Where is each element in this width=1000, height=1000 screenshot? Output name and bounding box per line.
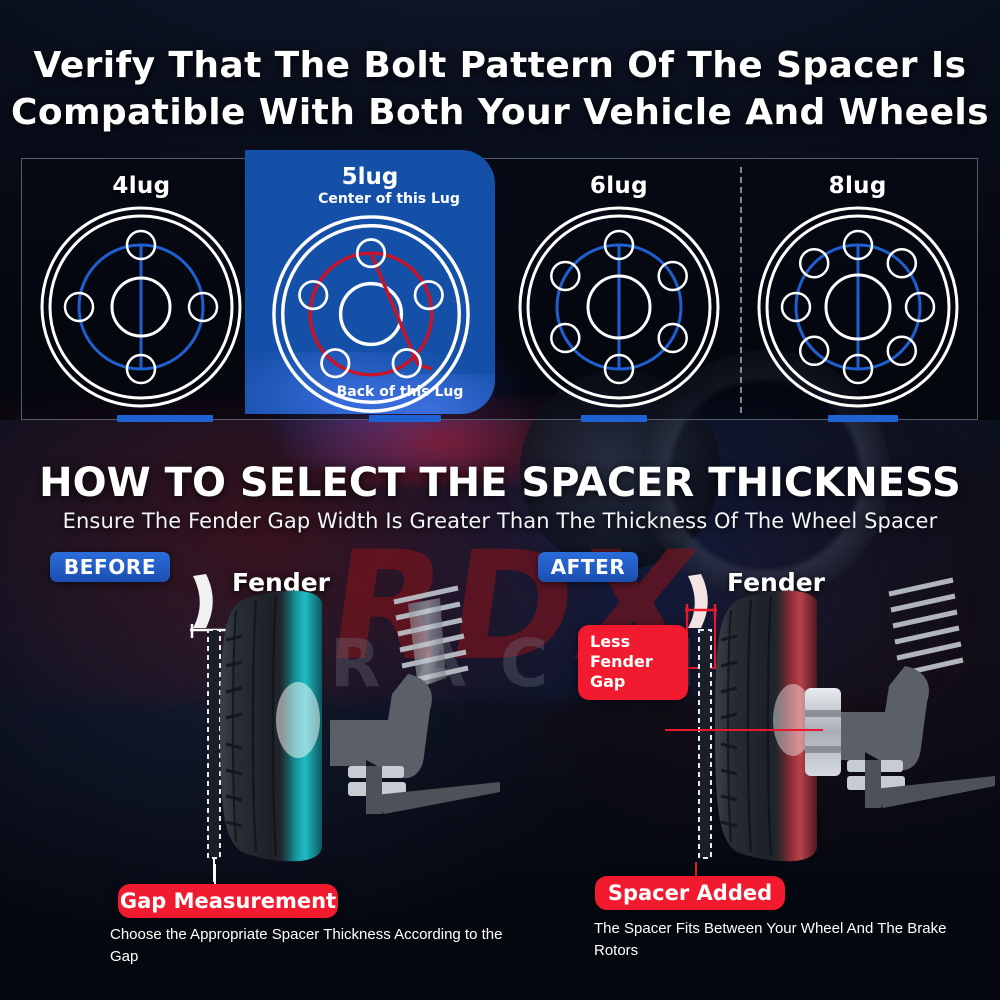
lug-diagram-8 (754, 203, 962, 411)
badge-after: AFTER (538, 552, 638, 582)
section-title: HOW TO SELECT THE SPACER THICKNESS (0, 460, 1000, 506)
bolt-pattern-section: 4lug 6lug (21, 158, 978, 420)
lug-panel-title: 6lug (590, 173, 648, 199)
lug-note-back: Back of this Lug (245, 384, 495, 400)
after-illustration (665, 570, 995, 890)
lug-panel-title: 4lug (112, 173, 170, 199)
badge-before: BEFORE (50, 552, 170, 582)
after-caption: The Spacer Fits Between Your Wheel And T… (594, 918, 994, 962)
page-title-line2: Compatible With Both Your Vehicle And Wh… (0, 89, 1000, 136)
less-fender-gap-label: Less Fender Gap (578, 625, 688, 700)
page-title-line1: Verify That The Bolt Pattern Of The Spac… (34, 45, 967, 86)
lug-note-center: Center of this Lug (245, 191, 495, 207)
spacer-added-label: Spacer Added (595, 876, 785, 910)
lug-diagram-4 (37, 203, 245, 411)
lug-panel-title: 5lug (245, 164, 495, 190)
page-title: Verify That The Bolt Pattern Of The Spac… (0, 42, 1000, 136)
underbar-6lug (581, 415, 647, 422)
lug-diagram-6 (515, 203, 723, 411)
panel-divider (740, 167, 742, 413)
lug-panel-8lug[interactable]: 8lug (738, 159, 977, 419)
lug-panel-4lug[interactable]: 4lug (22, 159, 261, 419)
underbar-5lug (369, 415, 441, 422)
gap-measurement-label: Gap Measurement (118, 884, 338, 918)
lug-panel-6lug[interactable]: 6lug (500, 159, 739, 419)
before-caption: Choose the Appropriate Spacer Thickness … (110, 924, 510, 968)
underbar-4lug (117, 415, 213, 422)
underbar-8lug (828, 415, 898, 422)
before-illustration (170, 570, 500, 890)
section-subtitle: Ensure The Fender Gap Width Is Greater T… (0, 509, 1000, 533)
lug-panel-5lug[interactable]: 5lug Center of this Lug Back of this Lug (245, 150, 495, 414)
lug-panel-title: 8lug (829, 173, 887, 199)
